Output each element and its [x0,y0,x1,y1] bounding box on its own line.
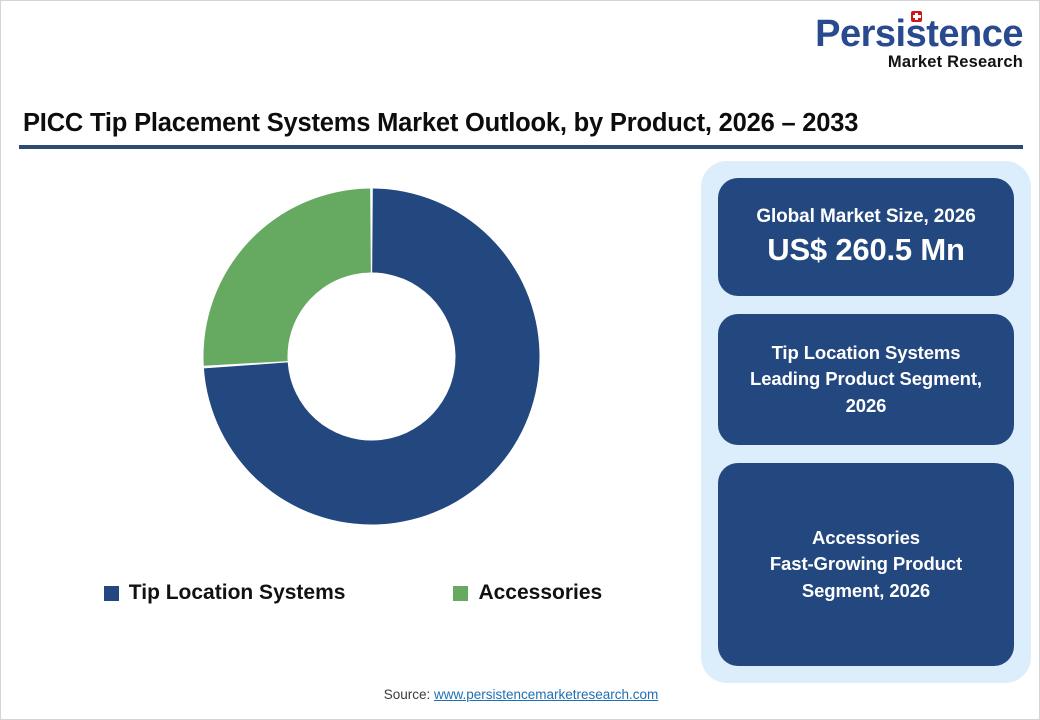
kpi-card-heading: Global Market Size, 2026 [756,205,975,230]
page-title: PICC Tip Placement Systems Market Outloo… [23,109,1013,138]
legend-swatch-icon [104,586,119,601]
kpi-card-line-3: Segment, 2026 [802,578,930,604]
donut-chart [15,161,691,561]
kpi-panel: Global Market Size, 2026 US$ 260.5 Mn Ti… [701,161,1031,683]
brand-logo: Persistence Market Research [805,15,1023,71]
legend-item-label: Accessories [478,581,602,605]
legend-item-tip-location-systems[interactable]: Tip Location Systems [104,581,346,605]
source-link[interactable]: www.persistencemarketresearch.com [434,687,658,702]
kpi-card-line-1: Accessories [812,525,920,551]
kpi-card-global-market-size[interactable]: Global Market Size, 2026 US$ 260.5 Mn [718,178,1014,296]
kpi-card-line-1: Tip Location Systems [772,340,961,366]
infographic-root: Persistence Market Research PICC Tip Pla… [0,0,1040,720]
kpi-card-fast-growing-segment[interactable]: Accessories Fast-Growing Product Segment… [718,463,1014,666]
legend-item-accessories[interactable]: Accessories [453,581,602,605]
legend-item-label: Tip Location Systems [129,581,346,605]
donut-chart-canvas [201,186,542,527]
kpi-card-value: US$ 260.5 Mn [767,231,964,269]
title-divider [19,145,1023,149]
donut-chart-svg [201,186,542,527]
brand-logo-wordmark: Persistence [815,15,1023,53]
kpi-card-line-2: Fast-Growing Product [770,551,962,577]
kpi-card-line-3: 2026 [846,393,887,419]
brand-logo-tagline: Market Research [805,54,1023,71]
donut-slice-accessories[interactable] [204,189,371,366]
kpi-card-leading-segment[interactable]: Tip Location Systems Leading Product Seg… [718,314,1014,445]
legend-swatch-icon [453,586,468,601]
kpi-card-line-2: Leading Product Segment, [750,366,982,392]
medical-cross-icon [911,11,922,22]
chart-legend: Tip Location Systems Accessories [15,581,691,605]
source-footer: Source: www.persistencemarketresearch.co… [1,687,1040,702]
source-label: Source: [384,687,434,702]
